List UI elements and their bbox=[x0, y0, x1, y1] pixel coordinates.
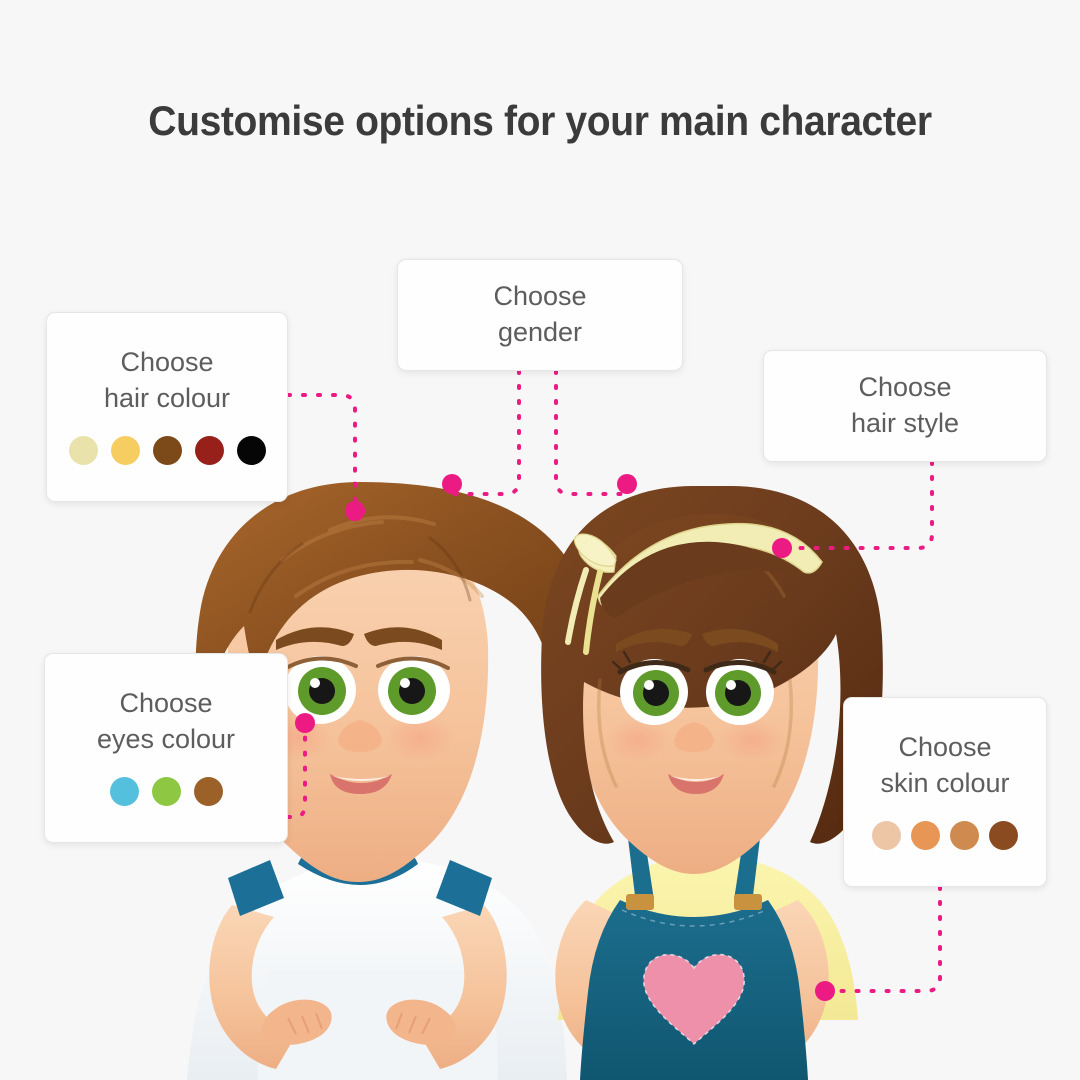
card-skin-colour-label: Choose skin colour bbox=[880, 730, 1009, 801]
swatch-skin-dark[interactable] bbox=[989, 821, 1018, 850]
card-gender-label: Choose gender bbox=[493, 279, 586, 350]
dot-hair-colour bbox=[345, 501, 365, 521]
customiser-screen: Customise options for your main characte… bbox=[0, 0, 1080, 1080]
connector-endpoint-dots bbox=[295, 474, 835, 1001]
dot-gender-boy bbox=[442, 474, 462, 494]
connector-hair-colour bbox=[288, 395, 355, 509]
card-hair-colour[interactable]: Choose hair colour bbox=[46, 312, 288, 502]
eyes-colour-swatch-list bbox=[110, 777, 223, 806]
dot-hair-style bbox=[772, 538, 792, 558]
swatch-eyes-blue[interactable] bbox=[110, 777, 139, 806]
dot-gender-girl bbox=[617, 474, 637, 494]
card-hair-style-label: Choose hair style bbox=[851, 370, 959, 441]
swatch-blonde-pale[interactable] bbox=[69, 436, 98, 465]
skin-colour-swatch-list bbox=[872, 821, 1018, 850]
dot-eyes-colour bbox=[295, 713, 315, 733]
card-eyes-colour[interactable]: Choose eyes colour bbox=[44, 653, 288, 843]
connector-lines bbox=[0, 0, 1080, 1080]
connector-gender-left bbox=[452, 371, 519, 494]
card-hair-colour-label: Choose hair colour bbox=[104, 345, 230, 416]
swatch-skin-medium-warm[interactable] bbox=[911, 821, 940, 850]
connector-skin-colour bbox=[825, 887, 940, 991]
hair-colour-swatch-list bbox=[69, 436, 266, 465]
swatch-auburn-red[interactable] bbox=[195, 436, 224, 465]
card-skin-colour[interactable]: Choose skin colour bbox=[843, 697, 1047, 887]
card-hair-style[interactable]: Choose hair style bbox=[763, 350, 1047, 462]
swatch-blonde-golden[interactable] bbox=[111, 436, 140, 465]
card-gender[interactable]: Choose gender bbox=[397, 259, 683, 371]
card-eyes-colour-label: Choose eyes colour bbox=[97, 686, 235, 757]
swatch-skin-tan[interactable] bbox=[950, 821, 979, 850]
swatch-black[interactable] bbox=[237, 436, 266, 465]
connector-eyes-colour bbox=[288, 737, 305, 817]
connector-gender-right bbox=[556, 371, 627, 494]
dot-skin-colour bbox=[815, 981, 835, 1001]
swatch-eyes-green[interactable] bbox=[152, 777, 181, 806]
swatch-eyes-brown[interactable] bbox=[194, 777, 223, 806]
swatch-brown[interactable] bbox=[153, 436, 182, 465]
connector-hair-style bbox=[783, 462, 932, 548]
swatch-skin-light[interactable] bbox=[872, 821, 901, 850]
